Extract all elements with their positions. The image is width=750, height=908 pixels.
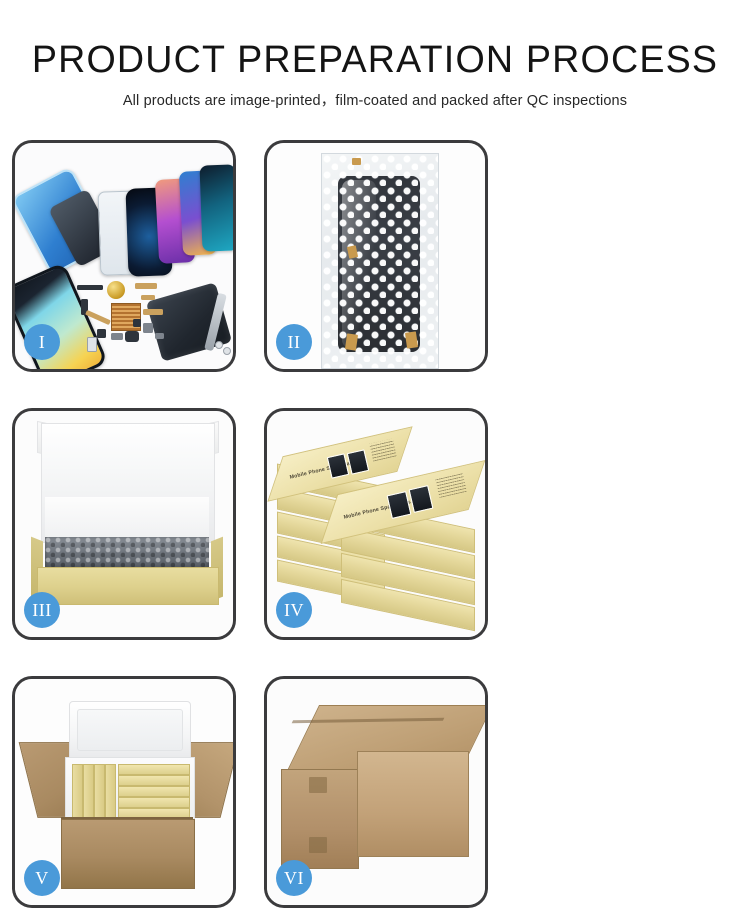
step-panel-4: Mobile Phone Spare Parts Mobile Phone Sp… xyxy=(264,408,488,640)
step-badge-6: VI xyxy=(276,860,312,896)
styrofoam-lid-recess xyxy=(77,709,183,751)
tape-piece xyxy=(352,158,361,165)
step-panel-1: I xyxy=(12,140,236,372)
step-panel-2: II xyxy=(264,140,488,372)
page-title: PRODUCT PREPARATION PROCESS xyxy=(4,38,747,82)
packed-box xyxy=(118,775,190,786)
step-badge-3: III xyxy=(24,592,60,628)
small-part xyxy=(97,329,106,338)
packed-box xyxy=(83,764,94,820)
small-part xyxy=(143,323,153,333)
step-badge-1: I xyxy=(24,324,60,360)
packed-box xyxy=(118,786,190,797)
bubble-texture-overlay xyxy=(322,154,438,368)
packed-box xyxy=(72,764,83,820)
step-panel-3: III xyxy=(12,408,236,640)
step-badge-5: V xyxy=(24,860,60,896)
small-part xyxy=(215,341,223,349)
page-subtitle: All products are image-printed，film-coat… xyxy=(0,91,750,111)
carton-tab-upper xyxy=(309,777,327,793)
step-badge-2: II xyxy=(276,324,312,360)
small-part xyxy=(111,333,123,340)
foam-sheet xyxy=(45,497,209,537)
bubble-wrap-bag xyxy=(321,153,439,369)
carton-front-panel xyxy=(61,819,195,889)
small-part xyxy=(141,295,155,300)
tape-piece xyxy=(405,331,418,348)
carton-tab-lower xyxy=(309,837,327,853)
packed-box xyxy=(118,764,190,775)
step-badge-4: IV xyxy=(276,592,312,628)
small-part xyxy=(223,347,231,355)
packed-box xyxy=(118,797,190,808)
page-header: PRODUCT PREPARATION PROCESS All products… xyxy=(0,0,750,111)
step-panel-6: VI xyxy=(264,676,488,908)
small-part xyxy=(125,331,139,342)
small-part xyxy=(155,333,164,339)
box-front-panel xyxy=(37,567,219,605)
taptic-coin-part xyxy=(107,281,125,299)
small-part xyxy=(143,309,163,315)
carton-right-face xyxy=(357,751,469,857)
small-part xyxy=(77,285,103,290)
styrofoam-tray xyxy=(65,757,195,825)
bubble-wrapped-contents xyxy=(45,537,209,569)
tape-piece xyxy=(345,333,358,350)
process-steps-grid: I II xyxy=(12,140,738,908)
phone-teal xyxy=(200,164,233,251)
packed-box xyxy=(105,764,116,820)
step-panel-5: V xyxy=(12,676,236,908)
small-part xyxy=(87,337,97,352)
small-part xyxy=(133,319,141,327)
packed-box xyxy=(94,764,105,820)
small-part xyxy=(135,283,157,289)
